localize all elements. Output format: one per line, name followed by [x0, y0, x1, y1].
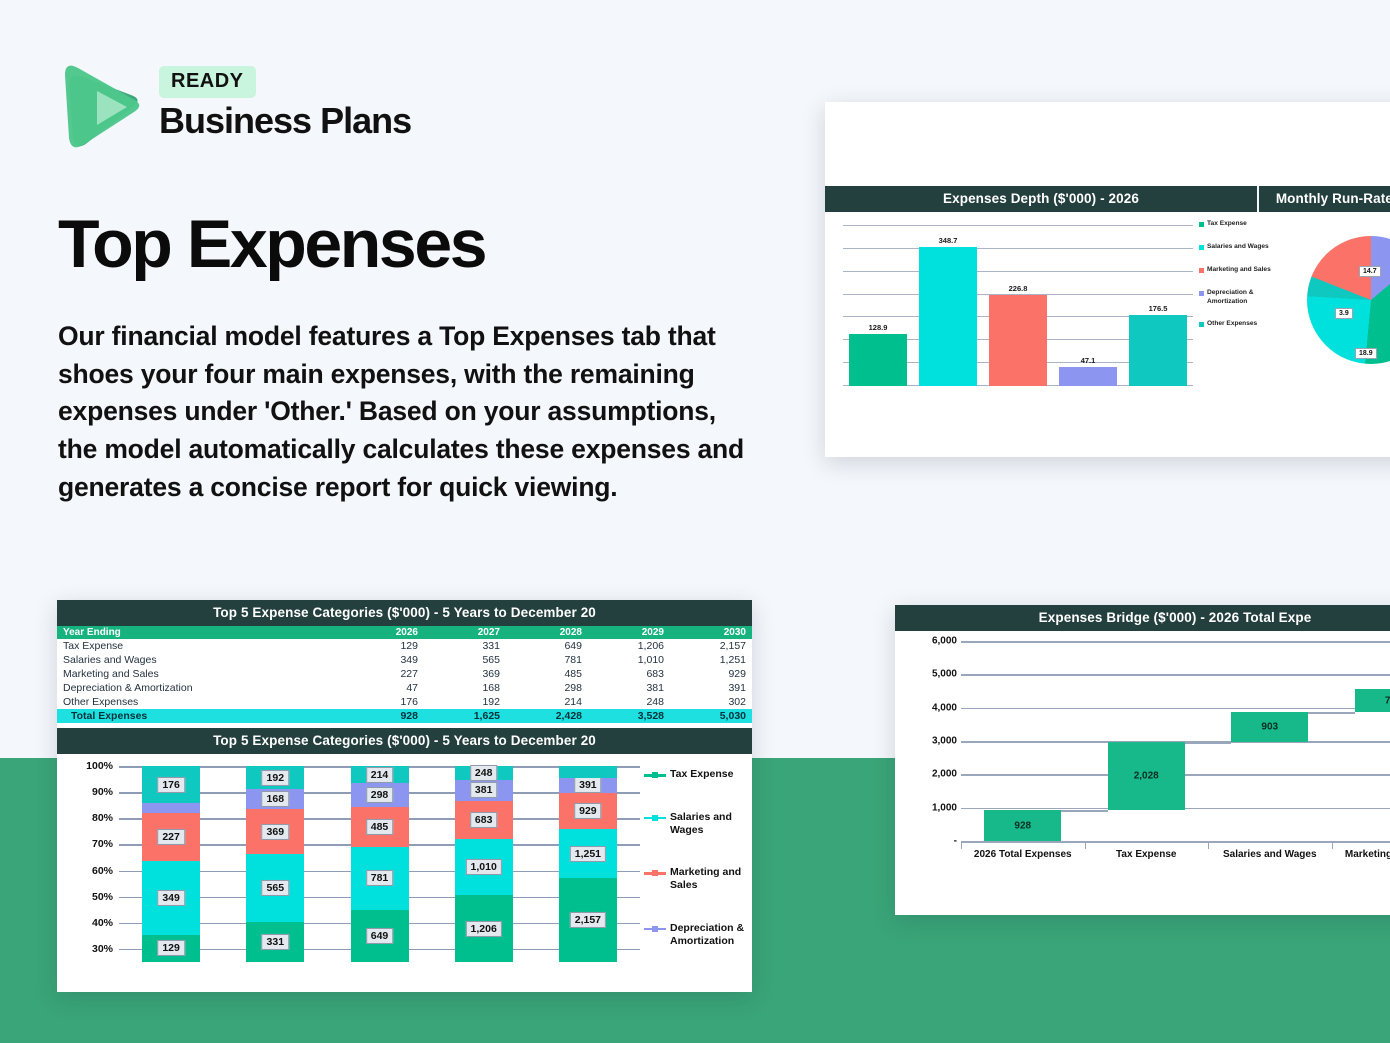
- page-title: Top Expenses: [58, 205, 485, 283]
- stacked-bar-segment: 331: [246, 922, 304, 962]
- axis-tick-label: 5,000: [932, 669, 957, 680]
- table-cell: 129: [342, 639, 424, 653]
- legend-item: Depreciation & Amortization: [1199, 289, 1275, 307]
- table-row: Other Expenses176192214248302: [57, 695, 752, 709]
- waterfall-x-axis: 2026 Total ExpensesTax ExpenseSalaries a…: [961, 849, 1390, 869]
- table-cell: 1,251: [670, 653, 752, 667]
- axis-tick: [961, 841, 962, 849]
- table-total-row: Total Expenses9281,6252,4283,5285,030: [57, 709, 752, 723]
- waterfall-bar-value: 928: [1014, 820, 1031, 831]
- table-cell: 391: [670, 681, 752, 695]
- stacked-chart-plot-area: 1293492271763315653691681926497814852982…: [119, 766, 640, 962]
- expenses-bridge-card: Expenses Bridge ($'000) - 2026 Total Exp…: [895, 605, 1390, 915]
- legend-label: Tax Expense: [1207, 220, 1247, 229]
- expense-table-title: Top 5 Expense Categories ($'000) - 5 Yea…: [57, 600, 752, 626]
- stacked-bar-column: 649781485298214: [351, 766, 409, 962]
- axis-tick: [1332, 841, 1333, 849]
- legend-item: Depreciation & Amortization: [644, 922, 748, 948]
- table-row: Depreciation & Amortization4716829838139…: [57, 681, 752, 695]
- stacked-bar-segment: 248: [455, 766, 513, 780]
- axis-tick-label: 40%: [92, 917, 113, 929]
- table-cell: 176: [342, 695, 424, 709]
- table-row-label: Depreciation & Amortization: [57, 681, 342, 695]
- stacked-bar-column: 1,2061,010683381248: [455, 766, 513, 962]
- table-column-header: 2027: [424, 626, 506, 639]
- legend-marker: [644, 868, 666, 878]
- page-description: Our financial model features a Top Expen…: [58, 318, 758, 506]
- legend-item: Salaries and Wages: [644, 811, 748, 837]
- depth-bar-value: 47.1: [1081, 356, 1096, 365]
- waterfall-bar-value: 903: [1261, 722, 1278, 733]
- waterfall-bar: 702: [1355, 689, 1390, 712]
- stacked-bar-value: 369: [262, 824, 290, 840]
- stacked-bar-segment: 391: [559, 778, 617, 793]
- stacked-bar-segment: [142, 803, 200, 813]
- axis-tick-label: 4,000: [932, 702, 957, 713]
- stacked-bar-value: 929: [574, 803, 602, 819]
- pie-slice-value: 14.7: [1359, 266, 1381, 277]
- stacked-bar-segment: 192: [246, 766, 304, 789]
- stacked-bar-segment: 369: [246, 809, 304, 854]
- legend-item: Other Expenses: [1199, 320, 1275, 329]
- stacked-bar-segment: 1,206: [455, 895, 513, 962]
- waterfall-bar: 903: [1231, 712, 1308, 742]
- pie-slice-value: 18.9: [1355, 348, 1377, 359]
- expenses-bridge-title: Expenses Bridge ($'000) - 2026 Total Exp…: [895, 605, 1390, 631]
- ready-badge: READY: [159, 66, 256, 98]
- stacked-chart-legend: Tax ExpenseSalaries and WagesMarketing a…: [644, 768, 748, 978]
- legend-label: Marketing and Sales: [1207, 266, 1271, 275]
- waterfall-y-axis: -1,0002,0003,0004,0005,0006,000: [901, 641, 957, 841]
- table-cell: 1,206: [588, 639, 670, 653]
- monthly-run-rate-title: Monthly Run-Rate ($'000) -: [1257, 186, 1390, 212]
- table-cell: 248: [588, 695, 670, 709]
- run-rate-pie: [1307, 236, 1390, 364]
- table-cell: 381: [588, 681, 670, 695]
- waterfall-bar-value: 702: [1385, 695, 1390, 706]
- stacked-bar-value: 349: [157, 890, 185, 906]
- brand-lockup: READY Business Plans: [57, 57, 411, 149]
- waterfall-connector: [1061, 810, 1108, 812]
- table-column-header: 2026: [342, 626, 424, 639]
- expenses-depth-chart: 128.9348.7226.847.1176.5: [825, 212, 1195, 392]
- legend-item: Salaries and Wages: [1199, 243, 1275, 252]
- waterfall-bar: 928: [984, 810, 1061, 841]
- stacked-bar-segment: 298: [351, 783, 409, 807]
- table-cell: 485: [506, 667, 588, 681]
- depth-bar-value: 226.8: [1009, 284, 1028, 293]
- legend-label: Depreciation & Amortization: [1207, 289, 1275, 307]
- table-row: Salaries and Wages3495657811,0101,251: [57, 653, 752, 667]
- table-body: Tax Expense1293316491,2062,157Salaries a…: [57, 639, 752, 723]
- stacked-chart-y-axis: 30%40%50%60%70%80%90%100%: [65, 766, 113, 962]
- expenses-depth-card: Expenses Depth ($'000) - 2026 Monthly Ru…: [825, 102, 1390, 457]
- legend-marker: [644, 813, 666, 823]
- table-row-label: Tax Expense: [57, 639, 342, 653]
- table-cell: 192: [424, 695, 506, 709]
- table-cell: 227: [342, 667, 424, 681]
- table-cell: 214: [506, 695, 588, 709]
- table-cell: 302: [670, 695, 752, 709]
- axis-tick-label: 100%: [86, 760, 113, 772]
- depth-plot-area: 128.9348.7226.847.1176.5: [843, 226, 1193, 386]
- stacked-bar-segment: 381: [455, 780, 513, 801]
- legend-label: Depreciation & Amortization: [670, 922, 748, 948]
- stacked-bar-segment: 929: [559, 793, 617, 829]
- grid-line: [961, 841, 1390, 843]
- stacked-bar-value: 2,157: [570, 912, 606, 928]
- table-cell: 298: [506, 681, 588, 695]
- grid-line: [961, 708, 1390, 710]
- legend-marker: [644, 924, 666, 934]
- card-top-title-row: Expenses Depth ($'000) - 2026 Monthly Ru…: [825, 186, 1390, 212]
- axis-tick-label: 1,000: [932, 802, 957, 813]
- waterfall-connector: [1185, 742, 1232, 744]
- table-row: Marketing and Sales227369485683929: [57, 667, 752, 681]
- legend-label: Salaries and Wages: [1207, 243, 1269, 252]
- legend-swatch: [1199, 322, 1204, 327]
- table-column-header: 2030: [670, 626, 752, 639]
- stacked-bar-segment: 565: [246, 854, 304, 922]
- stacked-percent-chart: 30%40%50%60%70%80%90%100% 12934922717633…: [57, 754, 752, 982]
- stacked-bar-segment: 649: [351, 910, 409, 962]
- table-column-header: 2028: [506, 626, 588, 639]
- waterfall-category-label: 2026 Total Expenses: [974, 849, 1072, 860]
- table-cell: 929: [670, 667, 752, 681]
- table-row-label: Salaries and Wages: [57, 653, 342, 667]
- stacked-bar-value: 227: [157, 829, 185, 845]
- legend-item: Marketing and Sales: [644, 866, 748, 892]
- stacked-bar-segment: 2,157: [559, 878, 617, 962]
- brand-name: Business Plans: [159, 102, 411, 140]
- legend-swatch: [1199, 291, 1204, 296]
- stacked-bar-column: 2,1571,251929391: [559, 766, 617, 962]
- grid-line: [843, 248, 1193, 249]
- table-row: Tax Expense1293316491,2062,157: [57, 639, 752, 653]
- stacked-bar-value: 129: [157, 940, 185, 956]
- table-total-label: Total Expenses: [57, 709, 342, 723]
- table-cell: 1,010: [588, 653, 670, 667]
- stacked-bar-value: 214: [366, 767, 394, 783]
- waterfall-category-label: Salaries and Wages: [1223, 849, 1317, 860]
- depth-bar-value: 176.5: [1149, 304, 1168, 313]
- table-total-cell: 928: [342, 709, 424, 723]
- legend-item: Tax Expense: [1199, 220, 1275, 229]
- stacked-bar-segment: 1,251: [559, 829, 617, 878]
- waterfall-category-label: Marketing and Sales: [1345, 849, 1390, 860]
- legend-label: Tax Expense: [670, 768, 733, 781]
- table-column-header: Year Ending: [57, 626, 342, 639]
- stacked-bar-column: 129349227176: [142, 766, 200, 962]
- stacked-bar-segment: 781: [351, 847, 409, 910]
- axis-tick-label: -: [954, 836, 957, 847]
- depth-bar: [849, 334, 906, 386]
- expense-categories-table: Year Ending20262027202820292030 Tax Expe…: [57, 626, 752, 723]
- legend-swatch: [1199, 245, 1204, 250]
- stacked-bar-value: 381: [470, 782, 498, 798]
- stacked-bar-value: 1,251: [570, 846, 606, 862]
- pie-slice-value: 3.9: [1335, 308, 1353, 319]
- stacked-bar-segment: 485: [351, 807, 409, 846]
- stacked-bar-value: 649: [366, 928, 394, 944]
- grid-line: [961, 641, 1390, 643]
- waterfall-plot-area: 9282,028903702: [961, 641, 1390, 841]
- stacked-bar-value: 298: [366, 787, 394, 803]
- depth-bar-value: 348.7: [939, 236, 958, 245]
- stacked-bar-value: 391: [574, 777, 602, 793]
- axis-tick-label: 6,000: [932, 636, 957, 647]
- stacked-bar-segment: 683: [455, 801, 513, 839]
- waterfall-bar: 2,028: [1108, 742, 1185, 810]
- legend-label: Salaries and Wages: [670, 811, 748, 837]
- legend-label: Marketing and Sales: [670, 866, 748, 892]
- stacked-bar-segment: 168: [246, 789, 304, 809]
- table-row-label: Other Expenses: [57, 695, 342, 709]
- stacked-bar-value: 683: [470, 812, 498, 828]
- stacked-bar-value: 1,206: [466, 920, 502, 936]
- table-row-label: Marketing and Sales: [57, 667, 342, 681]
- waterfall-bar-value: 2,028: [1134, 771, 1159, 782]
- stacked-bar-column: 331565369168192: [246, 766, 304, 962]
- stacked-bar-segment: 349: [142, 861, 200, 935]
- table-cell: 47: [342, 681, 424, 695]
- axis-tick-label: 80%: [92, 812, 113, 824]
- table-cell: 349: [342, 653, 424, 667]
- depth-bar: [989, 295, 1046, 386]
- axis-tick-label: 3,000: [932, 736, 957, 747]
- stacked-bar-value: 168: [262, 791, 290, 807]
- table-cell: 369: [424, 667, 506, 681]
- stacked-bar-value: 192: [262, 770, 290, 786]
- top-expense-categories-card: Top 5 Expense Categories ($'000) - 5 Yea…: [57, 600, 752, 992]
- stacked-bar-value: 565: [262, 880, 290, 896]
- grid-line: [843, 271, 1193, 272]
- table-cell: 781: [506, 653, 588, 667]
- table-header-row: Year Ending20262027202820292030: [57, 626, 752, 639]
- stacked-bar-segment: 227: [142, 813, 200, 861]
- table-total-cell: 3,528: [588, 709, 670, 723]
- table-cell: 168: [424, 681, 506, 695]
- table-column-header: 2029: [588, 626, 670, 639]
- table-cell: 2,157: [670, 639, 752, 653]
- stacked-bar-value: 485: [366, 819, 394, 835]
- axis-tick-label: 30%: [92, 943, 113, 955]
- expenses-depth-legend: Tax ExpenseSalaries and WagesMarketing a…: [1195, 212, 1275, 392]
- expense-chart-title: Top 5 Expense Categories ($'000) - 5 Yea…: [57, 728, 752, 754]
- table-total-cell: 5,030: [670, 709, 752, 723]
- stacked-bar-segment: 129: [142, 935, 200, 962]
- legend-swatch: [1199, 268, 1204, 273]
- table-cell: 683: [588, 667, 670, 681]
- legend-swatch: [1199, 222, 1204, 227]
- legend-marker: [644, 770, 666, 780]
- table-cell: 331: [424, 639, 506, 653]
- stacked-bar-segment: 214: [351, 766, 409, 783]
- monthly-run-rate-chart: 10.714.73.918.9: [1275, 212, 1390, 392]
- stacked-bar-value: 781: [366, 870, 394, 886]
- axis-tick: [1085, 841, 1086, 849]
- axis-tick-label: 50%: [92, 891, 113, 903]
- stacked-bar-value: 331: [262, 934, 290, 950]
- legend-item: Tax Expense: [644, 768, 748, 781]
- stacked-bar-value: 176: [157, 777, 185, 793]
- axis-tick: [1208, 841, 1209, 849]
- grid-line: [961, 674, 1390, 676]
- table-total-cell: 2,428: [506, 709, 588, 723]
- play-triangle-logo-icon: [57, 57, 145, 149]
- table-total-cell: 1,625: [424, 709, 506, 723]
- stacked-bar-segment: [559, 766, 617, 778]
- depth-bar: [1059, 367, 1116, 386]
- axis-tick-label: 60%: [92, 865, 113, 877]
- waterfall-chart: -1,0002,0003,0004,0005,0006,000 9282,028…: [895, 631, 1390, 886]
- depth-bar-value: 128.9: [869, 323, 888, 332]
- table-cell: 649: [506, 639, 588, 653]
- axis-tick-label: 70%: [92, 838, 113, 850]
- legend-label: Other Expenses: [1207, 320, 1257, 329]
- legend-item: Marketing and Sales: [1199, 266, 1275, 275]
- waterfall-category-label: Tax Expense: [1116, 849, 1176, 860]
- stacked-bar-value: 1,010: [466, 859, 502, 875]
- grid-line: [843, 225, 1193, 226]
- axis-tick-label: 2,000: [932, 769, 957, 780]
- stacked-bar-segment: 176: [142, 766, 200, 803]
- waterfall-connector: [1308, 712, 1355, 714]
- axis-tick-label: 90%: [92, 786, 113, 798]
- stacked-bar-value: 248: [470, 765, 498, 781]
- table-cell: 565: [424, 653, 506, 667]
- stacked-bar-segment: 1,010: [455, 839, 513, 895]
- depth-bar: [919, 247, 976, 386]
- expenses-depth-title: Expenses Depth ($'000) - 2026: [825, 186, 1257, 212]
- depth-bar: [1129, 315, 1186, 386]
